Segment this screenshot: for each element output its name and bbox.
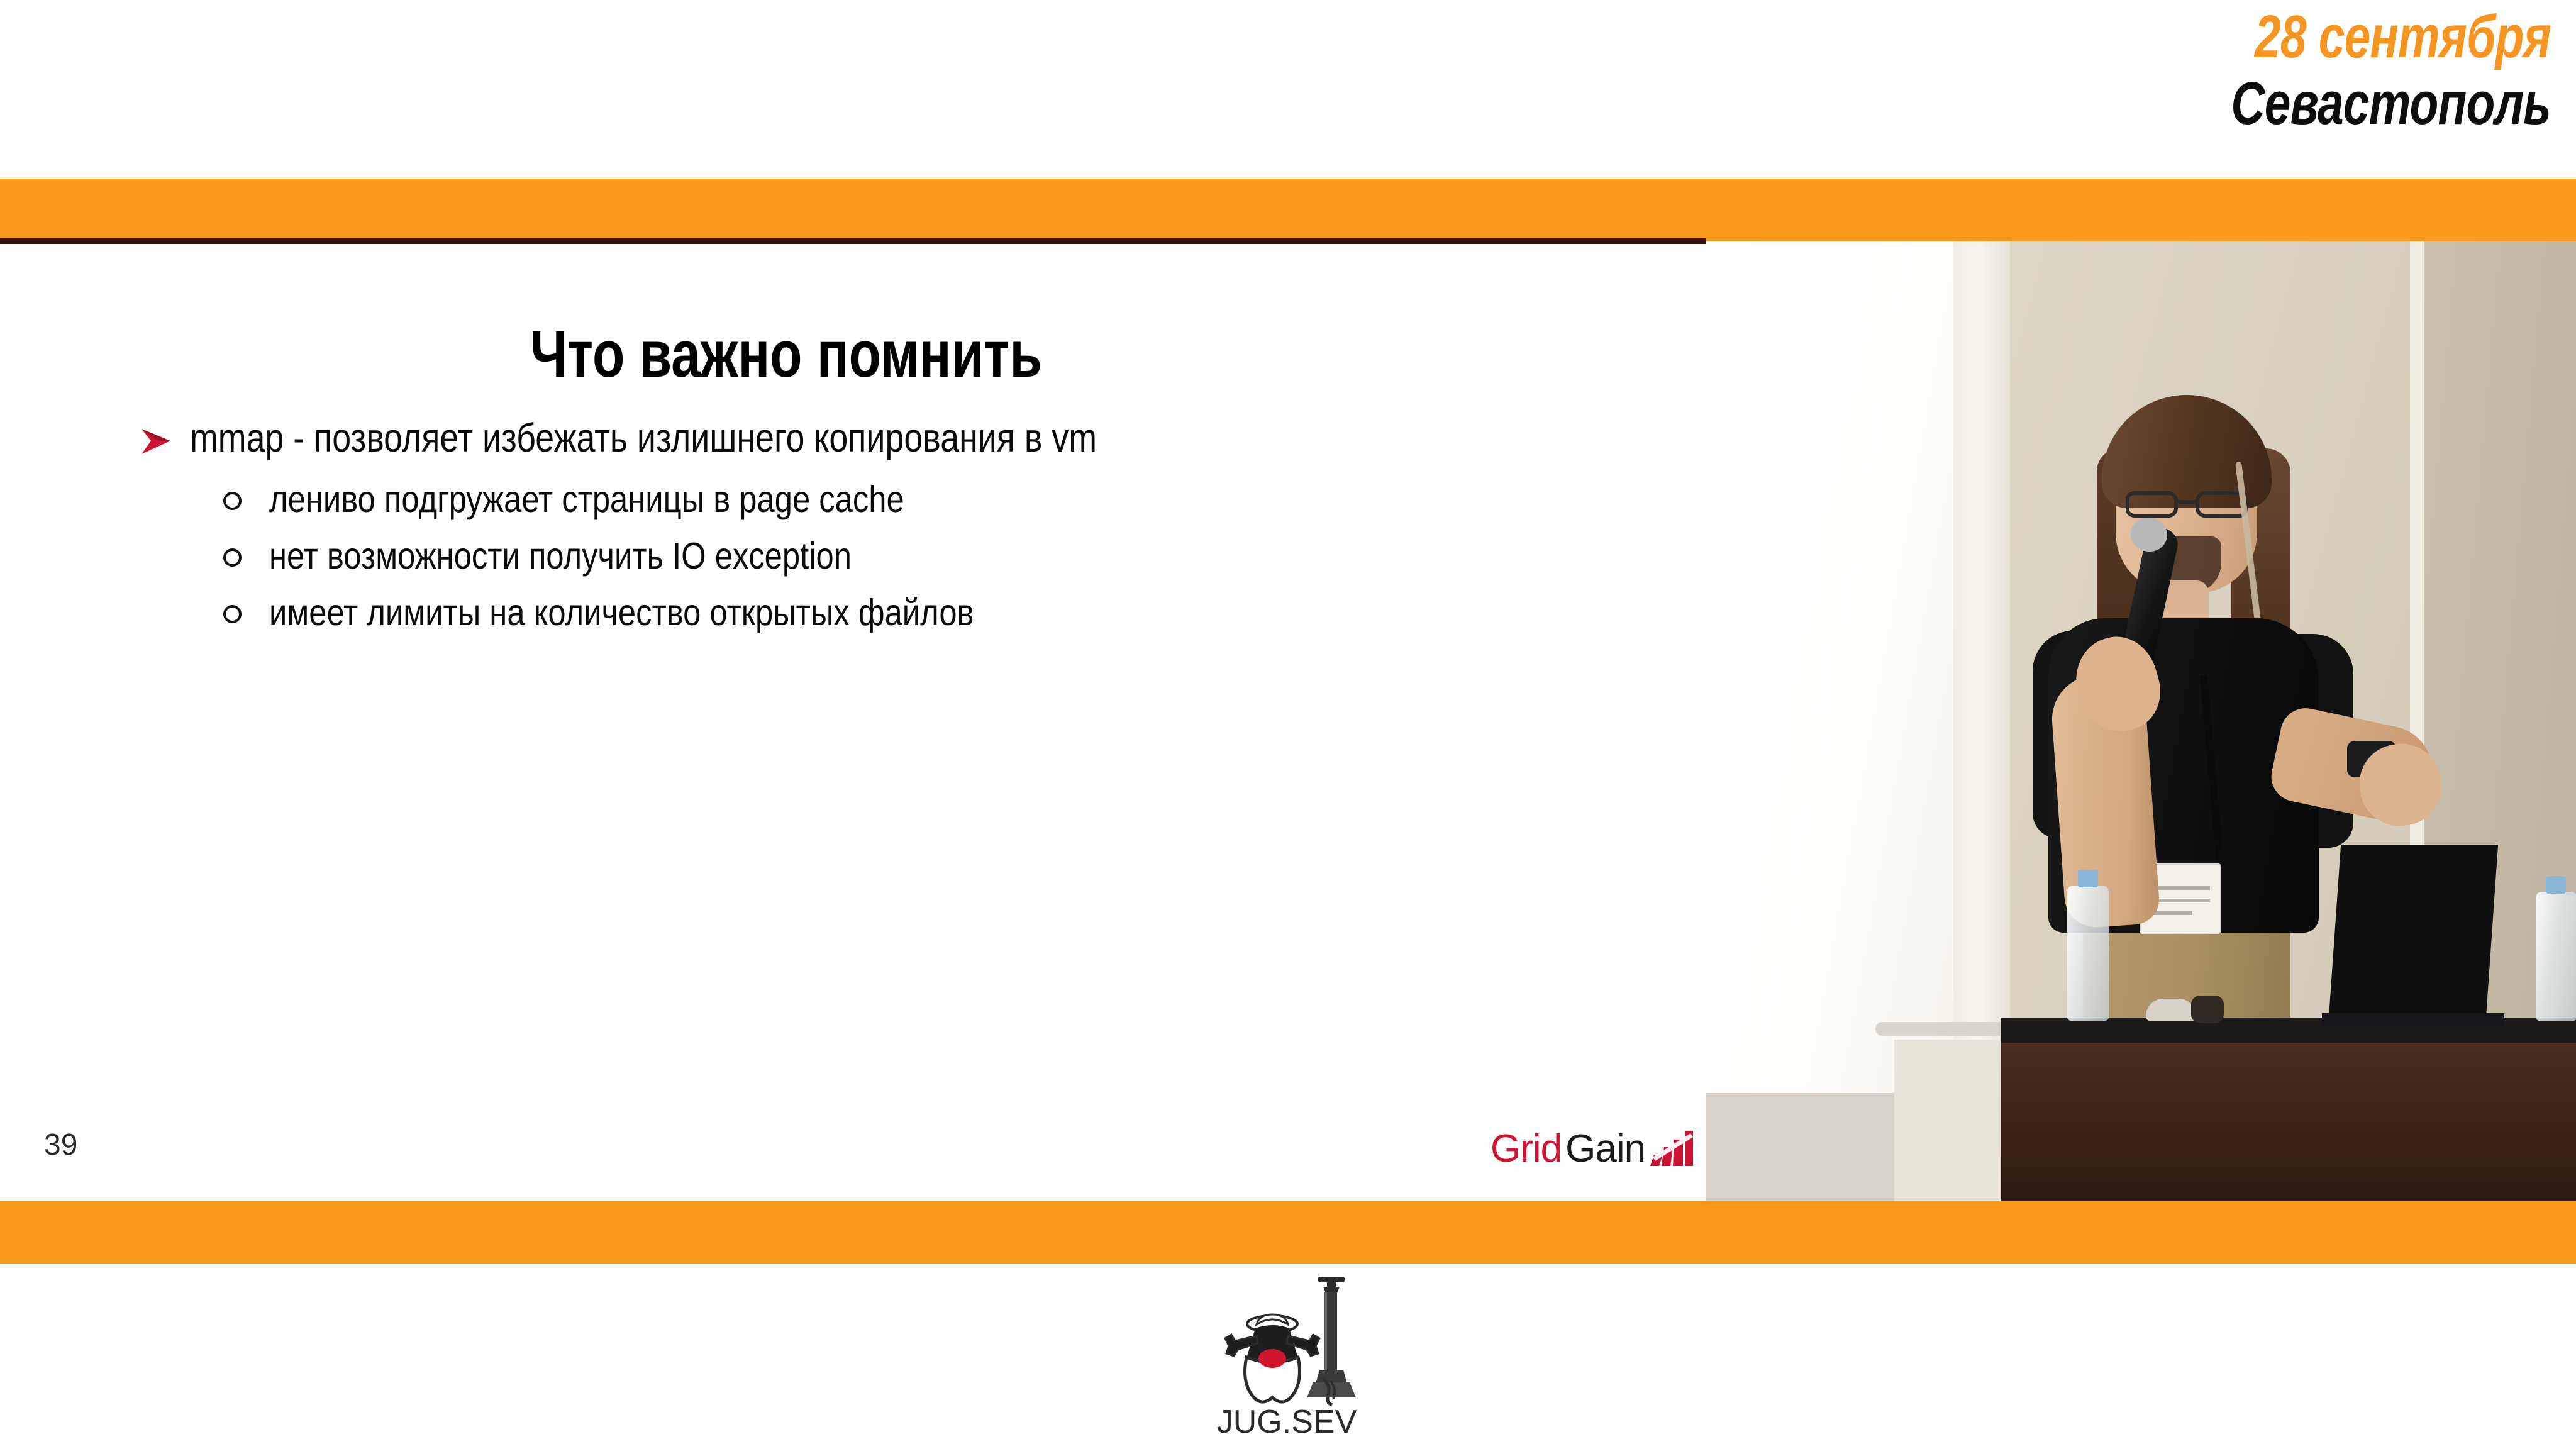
gridgain-logo: Grid Gain — [1491, 1130, 1694, 1169]
water-bottle-left-cap — [2078, 870, 2098, 887]
speaker-glasses-icon — [2126, 489, 2249, 518]
page-number: 39 — [44, 1128, 77, 1162]
ring-marker-icon — [223, 548, 241, 567]
water-bottle-right — [2536, 892, 2576, 1021]
jug-sev-logo: JUG.SEV — [1206, 1270, 1370, 1439]
desk-object — [2191, 996, 2224, 1023]
desk-side-panel — [1894, 1040, 2004, 1201]
bullet-level2-text: нет возможности получить IO exception — [269, 535, 852, 577]
water-bottle-right-cap — [2546, 876, 2566, 894]
laptop-screen — [2328, 845, 2498, 1027]
projection-screen — [1706, 241, 1953, 1146]
ring-marker-icon — [223, 605, 241, 623]
ring-marker-icon — [223, 492, 241, 510]
sub-bullet-list: лениво подгружает страницы в page cache … — [223, 478, 1089, 648]
bullet-level1: mmap - позволяет избежать излишнего копи… — [140, 415, 1270, 460]
jug-sev-wordmark: JUG.SEV — [1217, 1404, 1357, 1439]
gridgain-logo-gain: Gain — [1565, 1130, 1645, 1169]
speaker-video-feed: d Gain — [1706, 241, 2576, 1201]
event-city: Севастополь — [2231, 69, 2551, 138]
presentation-slide: Что важно помнить mmap - позволяет избеж… — [0, 244, 1706, 1201]
bullet-level1-text: mmap - позволяет избежать излишнего копи… — [190, 415, 1097, 460]
event-date: 28 сентября — [2231, 5, 2551, 69]
desk-rail — [1875, 1022, 2007, 1036]
bullet-level2-text: имеет лимиты на количество открытых файл… — [269, 591, 974, 634]
header-band: 28 сентября Севастополь — [0, 0, 2576, 179]
slide-title: Что важно помнить — [157, 319, 1415, 390]
bullet-level2-text: лениво подгружает страницы в page cache — [269, 478, 904, 521]
slide-stream-stage: 28 сентября Севастополь Что важно помнит… — [0, 0, 2576, 1449]
desk-body — [2001, 1043, 2576, 1201]
bullet-level2: нет возможности получить IO exception — [223, 535, 1089, 577]
arrow-marker-icon — [140, 425, 172, 458]
water-bottle-left — [2067, 885, 2109, 1021]
gridgain-mark-icon — [1649, 1130, 1694, 1169]
gridgain-logo-grid: Grid — [1491, 1130, 1562, 1169]
orange-rule-bottom — [0, 1201, 2576, 1264]
computer-mouse — [2146, 999, 2196, 1021]
bullet-level2: лениво подгружает страницы в page cache — [223, 478, 1089, 521]
slide-underline — [0, 238, 1706, 244]
duke-mascot-icon — [1225, 1314, 1319, 1402]
event-branding: 28 сентября Севастополь — [2141, 5, 2551, 138]
bullet-level2: имеет лимиты на количество открытых файл… — [223, 591, 1089, 634]
orange-rule-top — [0, 179, 2576, 241]
laptop-base — [2322, 1013, 2504, 1027]
